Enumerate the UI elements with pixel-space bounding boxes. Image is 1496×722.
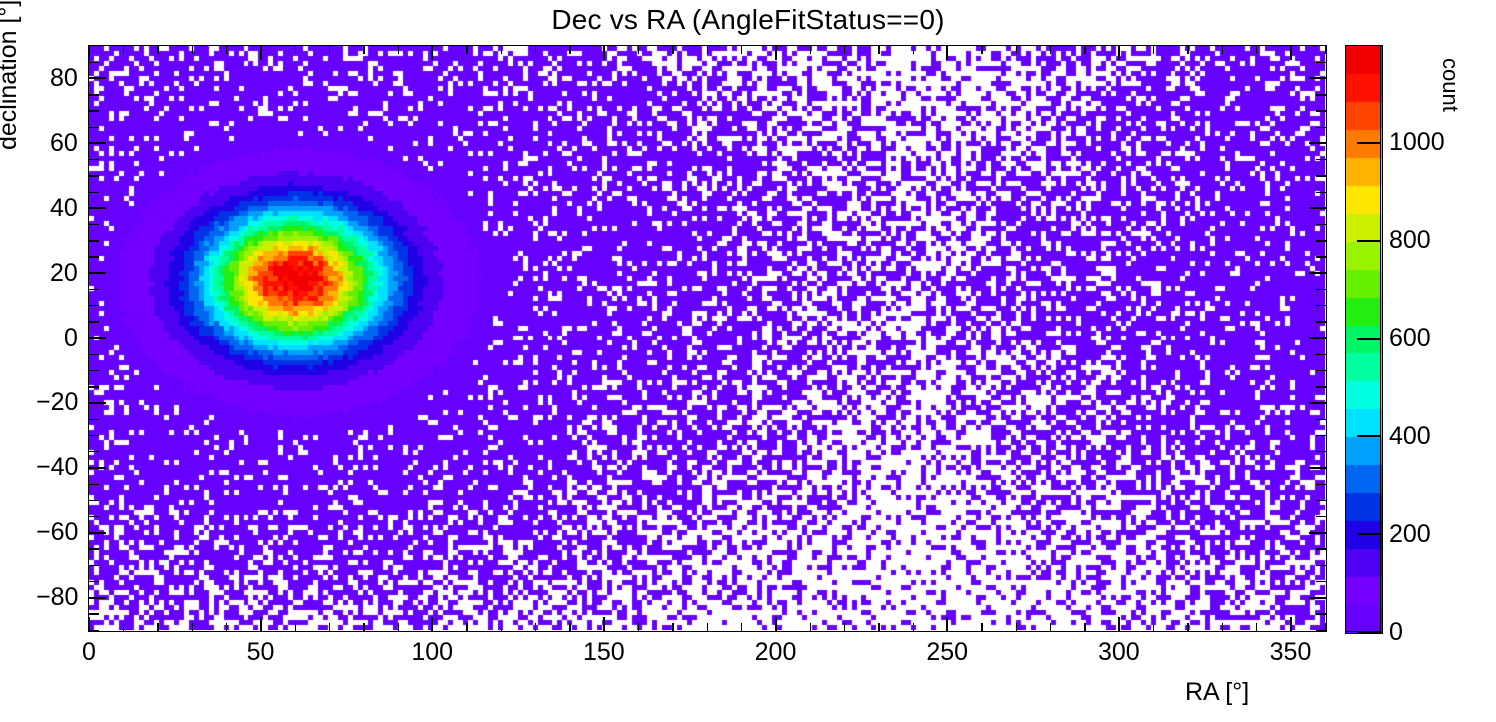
y-minor-tick <box>89 500 99 501</box>
y-tick-label: 40 <box>50 194 78 223</box>
x-minor-tick-top <box>1187 46 1188 54</box>
y-minor-tick-right <box>1316 192 1326 193</box>
x-minor-tick <box>672 623 673 631</box>
y-major-tick <box>89 77 106 79</box>
y-minor-tick <box>89 224 99 225</box>
x-minor-tick <box>295 623 296 631</box>
y-major-tick <box>89 597 106 599</box>
x-minor-tick <box>123 623 124 631</box>
y-major-tick-right <box>1309 402 1326 404</box>
y-minor-tick <box>89 370 99 371</box>
y-minor-tick <box>89 321 99 322</box>
x-minor-tick <box>466 623 467 631</box>
x-minor-tick <box>1222 623 1223 631</box>
x-minor-tick-top <box>672 46 673 54</box>
x-major-tick-top <box>775 46 777 60</box>
y-minor-tick-right <box>1316 451 1326 452</box>
y-minor-tick-right <box>1316 240 1326 241</box>
colorbar-tick <box>1357 631 1381 633</box>
x-minor-tick <box>741 623 742 631</box>
y-minor-tick-right <box>1316 484 1326 485</box>
x-minor-tick <box>844 623 845 631</box>
y-minor-tick <box>89 581 99 582</box>
y-major-tick <box>89 337 106 339</box>
x-minor-tick <box>1153 623 1154 631</box>
y-minor-tick-right <box>1316 516 1326 517</box>
x-minor-tick-top <box>569 46 570 54</box>
y-minor-tick <box>89 419 99 420</box>
x-minor-tick-top <box>398 46 399 54</box>
x-major-tick <box>603 617 605 631</box>
y-minor-tick <box>89 289 99 290</box>
x-major-tick <box>260 617 262 631</box>
y-minor-tick <box>89 451 99 452</box>
x-tick-label: 350 <box>1270 638 1312 667</box>
y-major-tick <box>89 272 106 274</box>
colorbar-title: count <box>1437 58 1463 178</box>
x-minor-tick-top <box>1050 46 1051 54</box>
x-minor-tick-top <box>535 46 536 54</box>
x-minor-tick-top <box>913 46 914 54</box>
x-minor-tick-top <box>363 46 364 54</box>
y-major-tick-right <box>1309 142 1326 144</box>
y-minor-tick-right <box>1316 321 1326 322</box>
x-tick-label: 100 <box>411 638 453 667</box>
page-title: Dec vs RA (AngleFitStatus==0) <box>0 4 1496 36</box>
y-minor-tick <box>89 240 99 241</box>
y-major-tick <box>89 402 106 404</box>
x-minor-tick <box>981 623 982 631</box>
x-minor-tick-top <box>810 46 811 54</box>
x-minor-tick <box>363 623 364 631</box>
y-major-tick-right <box>1309 467 1326 469</box>
y-minor-tick <box>89 435 99 436</box>
x-minor-tick-top <box>1084 46 1085 54</box>
x-tick-label: 0 <box>82 638 96 667</box>
y-minor-tick <box>89 613 99 614</box>
y-minor-tick-right <box>1316 370 1326 371</box>
x-major-tick-top <box>1118 46 1120 60</box>
y-minor-tick <box>89 386 99 387</box>
x-tick-label: 200 <box>755 638 797 667</box>
y-minor-tick-right <box>1316 94 1326 95</box>
y-minor-tick-right <box>1316 305 1326 306</box>
x-minor-tick <box>1084 623 1085 631</box>
y-minor-tick-right <box>1316 435 1326 436</box>
x-minor-tick <box>878 623 879 631</box>
y-minor-tick-right <box>1316 159 1326 160</box>
x-tick-label: 50 <box>247 638 275 667</box>
x-minor-tick-top <box>1222 46 1223 54</box>
x-minor-tick-top <box>192 46 193 54</box>
x-minor-tick-top <box>1325 46 1326 54</box>
y-major-tick-right <box>1309 597 1326 599</box>
x-major-tick <box>1118 617 1120 631</box>
x-minor-tick-top <box>329 46 330 54</box>
colorbar-tick <box>1357 142 1381 144</box>
y-minor-tick-right <box>1316 581 1326 582</box>
y-tick-label: −40 <box>36 453 78 482</box>
x-major-tick-top <box>946 46 948 60</box>
x-major-tick-top <box>88 46 90 60</box>
colorbar-tick <box>1357 240 1381 242</box>
y-minor-tick-right <box>1316 256 1326 257</box>
y-minor-tick-right <box>1316 419 1326 420</box>
x-major-tick-top <box>431 46 433 60</box>
x-minor-tick-top <box>1016 46 1017 54</box>
histogram-canvas[interactable] <box>89 46 1325 630</box>
x-minor-tick <box>398 623 399 631</box>
y-minor-tick <box>89 516 99 517</box>
y-tick-label: 20 <box>50 259 78 288</box>
y-major-tick <box>89 207 106 209</box>
y-minor-tick <box>89 94 99 95</box>
y-major-tick <box>89 532 106 534</box>
x-minor-tick-top <box>741 46 742 54</box>
y-major-tick <box>89 142 106 144</box>
y-minor-tick-right <box>1316 386 1326 387</box>
x-minor-tick-top <box>501 46 502 54</box>
y-minor-tick-right <box>1316 175 1326 176</box>
x-minor-tick <box>1050 623 1051 631</box>
y-minor-tick <box>89 192 99 193</box>
x-tick-label: 250 <box>926 638 968 667</box>
y-major-tick-right <box>1309 337 1326 339</box>
y-minor-tick <box>89 175 99 176</box>
y-major-tick-right <box>1309 207 1326 209</box>
x-minor-tick-top <box>981 46 982 54</box>
x-tick-label: 150 <box>583 638 625 667</box>
y-major-tick-right <box>1309 532 1326 534</box>
y-minor-tick <box>89 127 99 128</box>
colorbar-tick-label: 800 <box>1389 226 1431 255</box>
colorbar-tick <box>1357 533 1381 535</box>
colorbar-tick <box>1357 338 1381 340</box>
y-minor-tick-right <box>1316 500 1326 501</box>
y-major-tick <box>89 467 106 469</box>
x-minor-tick <box>329 623 330 631</box>
plot-root: Dec vs RA (AngleFitStatus==0) 0501001502… <box>0 0 1496 722</box>
y-minor-tick-right <box>1316 127 1326 128</box>
x-minor-tick-top <box>1153 46 1154 54</box>
x-minor-tick-top <box>707 46 708 54</box>
x-major-tick <box>1290 617 1292 631</box>
y-minor-tick-right <box>1316 630 1326 631</box>
y-minor-tick <box>89 159 99 160</box>
x-minor-tick-top <box>466 46 467 54</box>
x-minor-tick <box>569 623 570 631</box>
colorbar-tick-label: 200 <box>1389 520 1431 549</box>
x-tick-label: 300 <box>1098 638 1140 667</box>
colorbar-canvas <box>1345 45 1383 634</box>
y-minor-tick <box>89 62 99 63</box>
x-minor-tick <box>1256 623 1257 631</box>
y-minor-tick <box>89 354 99 355</box>
y-minor-tick-right <box>1316 548 1326 549</box>
colorbar-tick-label: 600 <box>1389 324 1431 353</box>
x-minor-tick <box>810 623 811 631</box>
x-minor-tick <box>1016 623 1017 631</box>
y-minor-tick <box>89 484 99 485</box>
y-tick-label: 0 <box>64 324 78 353</box>
x-minor-tick-top <box>123 46 124 54</box>
y-minor-tick <box>89 256 99 257</box>
y-minor-tick-right <box>1316 110 1326 111</box>
colorbar-tick-label: 400 <box>1389 422 1431 451</box>
y-major-tick-right <box>1309 77 1326 79</box>
plot-frame <box>88 45 1327 632</box>
y-axis-title: declination [°] <box>0 0 23 150</box>
colorbar-tick-label: 0 <box>1389 618 1403 647</box>
y-tick-label: −60 <box>36 518 78 547</box>
x-minor-tick <box>192 623 193 631</box>
x-major-tick-top <box>603 46 605 60</box>
y-minor-tick <box>89 548 99 549</box>
x-minor-tick-top <box>295 46 296 54</box>
colorbar-tick <box>1357 435 1381 437</box>
x-minor-tick-top <box>226 46 227 54</box>
x-minor-tick <box>913 623 914 631</box>
y-tick-label: 60 <box>50 129 78 158</box>
x-minor-tick-top <box>878 46 879 54</box>
x-major-tick <box>431 617 433 631</box>
x-major-tick <box>946 617 948 631</box>
x-minor-tick <box>1187 623 1188 631</box>
x-minor-tick-top <box>157 46 158 54</box>
x-minor-tick <box>535 623 536 631</box>
y-minor-tick-right <box>1316 613 1326 614</box>
x-minor-tick-top <box>638 46 639 54</box>
y-minor-tick-right <box>1316 224 1326 225</box>
y-minor-tick <box>89 110 99 111</box>
y-tick-label: −20 <box>36 388 78 417</box>
x-major-tick-top <box>1290 46 1292 60</box>
y-minor-tick-right <box>1316 354 1326 355</box>
x-minor-tick <box>226 623 227 631</box>
x-minor-tick-top <box>1256 46 1257 54</box>
y-minor-tick-right <box>1316 565 1326 566</box>
x-minor-tick <box>501 623 502 631</box>
x-minor-tick <box>638 623 639 631</box>
y-minor-tick-right <box>1316 62 1326 63</box>
x-axis-title: RA [°] <box>1185 678 1249 707</box>
x-minor-tick <box>157 623 158 631</box>
x-minor-tick-top <box>844 46 845 54</box>
x-minor-tick <box>707 623 708 631</box>
y-major-tick-right <box>1309 272 1326 274</box>
y-tick-label: −80 <box>36 583 78 612</box>
x-major-tick <box>775 617 777 631</box>
y-tick-label: 80 <box>50 64 78 93</box>
y-minor-tick <box>89 305 99 306</box>
y-minor-tick <box>89 565 99 566</box>
y-minor-tick-right <box>1316 289 1326 290</box>
y-minor-tick <box>89 630 99 631</box>
x-major-tick-top <box>260 46 262 60</box>
